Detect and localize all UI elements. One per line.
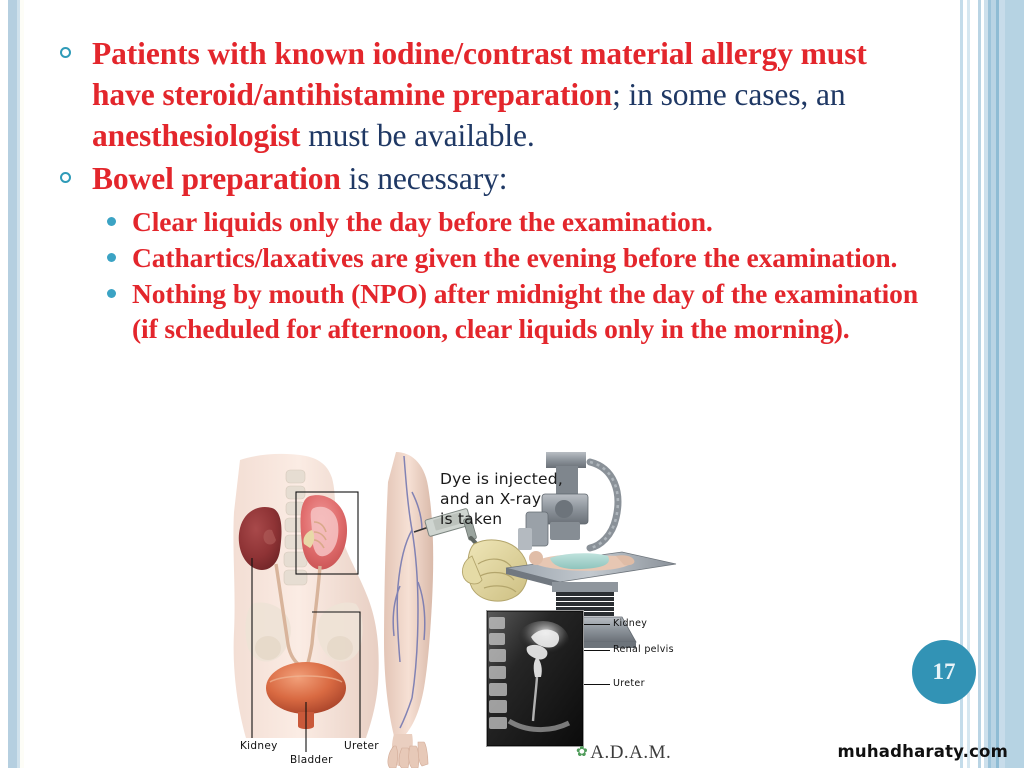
right-stripe-9: [991, 0, 996, 768]
xray-label-kidney: Kidney: [613, 618, 647, 629]
sub-bullet-item-2: Cathartics/laxatives are given the eveni…: [92, 240, 936, 275]
bullet-text: Bowel preparation is necessary:: [92, 161, 507, 196]
bullet-marker-circle-icon: [60, 172, 71, 183]
sub-bullet-text: Clear liquids only the day before the ex…: [132, 206, 713, 237]
sub-bullet-item-1: Clear liquids only the day before the ex…: [92, 204, 936, 239]
sub-bullet-text: Nothing by mouth (NPO) after midnight th…: [132, 278, 918, 344]
sub-bullet-item-3: Nothing by mouth (NPO) after midnight th…: [92, 276, 936, 346]
sub-bullet-marker-dot-icon: [107, 289, 116, 298]
right-stripe-12: [1005, 0, 1024, 768]
bullet-text-run: is necessary:: [341, 161, 508, 196]
bullet-text: Patients with known iodine/contrast mate…: [92, 36, 867, 153]
right-stripe-7: [984, 0, 988, 768]
right-stripe-5: [978, 0, 981, 768]
right-stripe-4: [970, 0, 978, 768]
xray-radiograph: [487, 611, 583, 746]
sub-bullet-marker-dot-icon: [107, 217, 116, 226]
bullet-marker-circle-icon: [60, 47, 71, 58]
left-edge-decoration: [0, 0, 40, 768]
adam-logo-text: A.D.A.M.: [590, 742, 671, 764]
right-stripe-8: [988, 0, 991, 768]
bullet-text-run: must be available.: [300, 118, 534, 153]
leaf-icon: ✿: [576, 746, 588, 760]
xray-label-ureter: Ureter: [613, 678, 645, 689]
left-stripe-2: [17, 0, 20, 768]
page-number: 17: [933, 659, 956, 685]
bullet-text-run: ; in some cases, an: [612, 77, 845, 112]
left-stripe-1: [8, 0, 17, 768]
sub-bullet-list: Clear liquids only the day before the ex…: [92, 204, 936, 347]
sub-bullet-marker-dot-icon: [107, 253, 116, 262]
xray-leader-kidney: [584, 624, 610, 625]
anatomy-label-bladder: Bladder: [290, 754, 333, 766]
bullet-item-1: Patients with known iodine/contrast mate…: [46, 34, 936, 157]
bullet-list: Patients with known iodine/contrast mate…: [46, 34, 936, 347]
slide-canvas: Patients with known iodine/contrast mate…: [0, 0, 1024, 768]
xray-image: [486, 610, 584, 747]
bullet-text-run: Bowel preparation: [92, 161, 341, 196]
bullet-text-run: anesthesiologist: [92, 118, 300, 153]
sub-bullet-text: Cathartics/laxatives are given the eveni…: [132, 242, 897, 273]
watermark: muhadharaty.com: [838, 742, 1009, 761]
xray-leader-renal-pelvis: [584, 650, 610, 651]
page-number-badge: 17: [912, 640, 976, 704]
bullet-item-2: Bowel preparation is necessary:Clear liq…: [46, 159, 936, 347]
xray-leader-ureter: [584, 684, 610, 685]
adam-logo: ✿ A.D.A.M.: [576, 742, 671, 764]
urography-illustration: Dye is injected, and an X-ray is taken: [228, 452, 678, 768]
right-stripe-6: [981, 0, 984, 768]
dye-caption: Dye is injected, and an X-ray is taken: [440, 470, 563, 529]
anatomy-label-kidney: Kidney: [240, 740, 278, 752]
xray-label-renal-pelvis: Renal pelvis: [613, 644, 674, 655]
slide-body: Patients with known iodine/contrast mate…: [46, 34, 936, 349]
anatomy-label-ureter: Ureter: [344, 740, 379, 752]
left-stripe-3: [20, 0, 24, 768]
right-stripe-10: [996, 0, 999, 768]
right-stripe-11: [999, 0, 1005, 768]
